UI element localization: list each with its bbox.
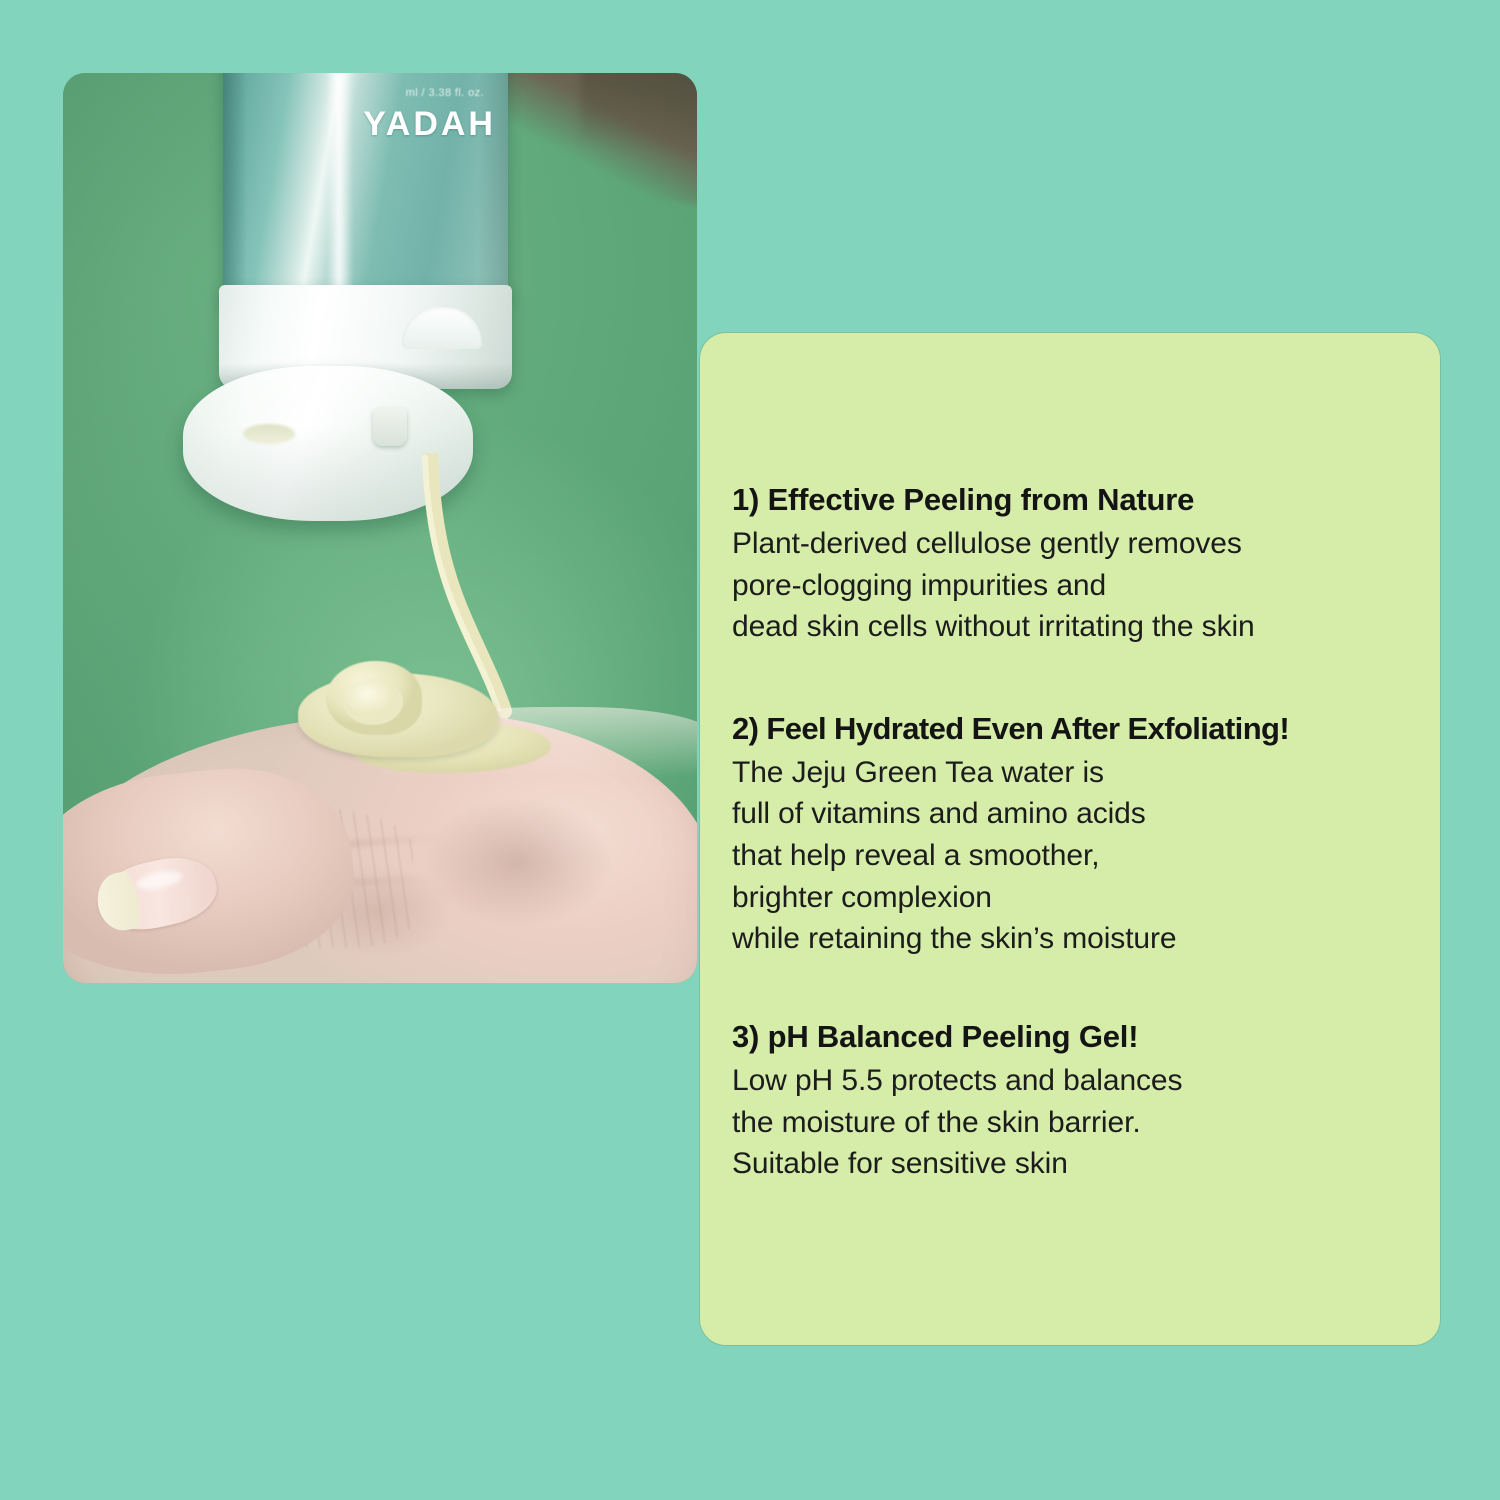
benefit-block-2: 2) Feel Hydrated Even After Exfoliating!… — [732, 710, 1426, 960]
benefit-3-line-2: the moisture of the skin barrier. — [732, 1102, 1426, 1144]
benefit-2-line-4: brighter complexion — [732, 877, 1426, 919]
benefit-1-title: 1) Effective Peeling from Nature — [732, 481, 1426, 519]
benefit-3-line-3: Suitable for sensitive skin — [732, 1143, 1426, 1185]
gel-blob-curl-inner — [343, 679, 403, 725]
product-infographic-page: ml / 3.38 fl. oz. YADAH — [0, 0, 1500, 1500]
tube-brand-label: YADAH — [363, 105, 496, 144]
nail-shine — [135, 868, 183, 893]
tube-highlight — [327, 73, 353, 302]
benefit-2-line-3: that help reveal a smoother, — [732, 835, 1426, 877]
photo-top-shadow-secondary — [581, 73, 697, 160]
benefit-block-3: 3) pH Balanced Peeling Gel! Low pH 5.5 p… — [732, 1018, 1426, 1185]
tube-left-shading — [223, 73, 247, 302]
tube-volume-label: ml / 3.38 fl. oz. — [406, 87, 484, 99]
benefit-1-line-1: Plant-derived cellulose gently removes — [732, 523, 1426, 565]
benefits-panel: 1) Effective Peeling from Nature Plant-d… — [700, 333, 1440, 1345]
benefit-block-1: 1) Effective Peeling from Nature Plant-d… — [732, 481, 1426, 648]
benefit-2-line-1: The Jeju Green Tea water is — [732, 752, 1426, 794]
benefit-2-line-5: while retaining the skin’s moisture — [732, 918, 1426, 960]
benefit-1-line-2: pore-clogging impurities and — [732, 565, 1426, 607]
cap-thumb-notch — [402, 307, 482, 349]
benefit-2-line-2: full of vitamins and amino acids — [732, 793, 1426, 835]
benefit-1-line-3: dead skin cells without irritating the s… — [732, 606, 1426, 648]
cap-dispense-nozzle — [373, 408, 407, 446]
product-tube: ml / 3.38 fl. oz. YADAH — [223, 73, 508, 302]
benefit-3-title: 3) pH Balanced Peeling Gel! — [732, 1018, 1426, 1056]
benefits-list: 1) Effective Peeling from Nature Plant-d… — [732, 481, 1426, 1185]
benefit-3-line-1: Low pH 5.5 protects and balances — [732, 1060, 1426, 1102]
benefit-2-title: 2) Feel Hydrated Even After Exfoliating! — [732, 710, 1426, 748]
product-demo-photo: ml / 3.38 fl. oz. YADAH — [63, 73, 697, 983]
cap-disc-recess — [243, 424, 295, 444]
